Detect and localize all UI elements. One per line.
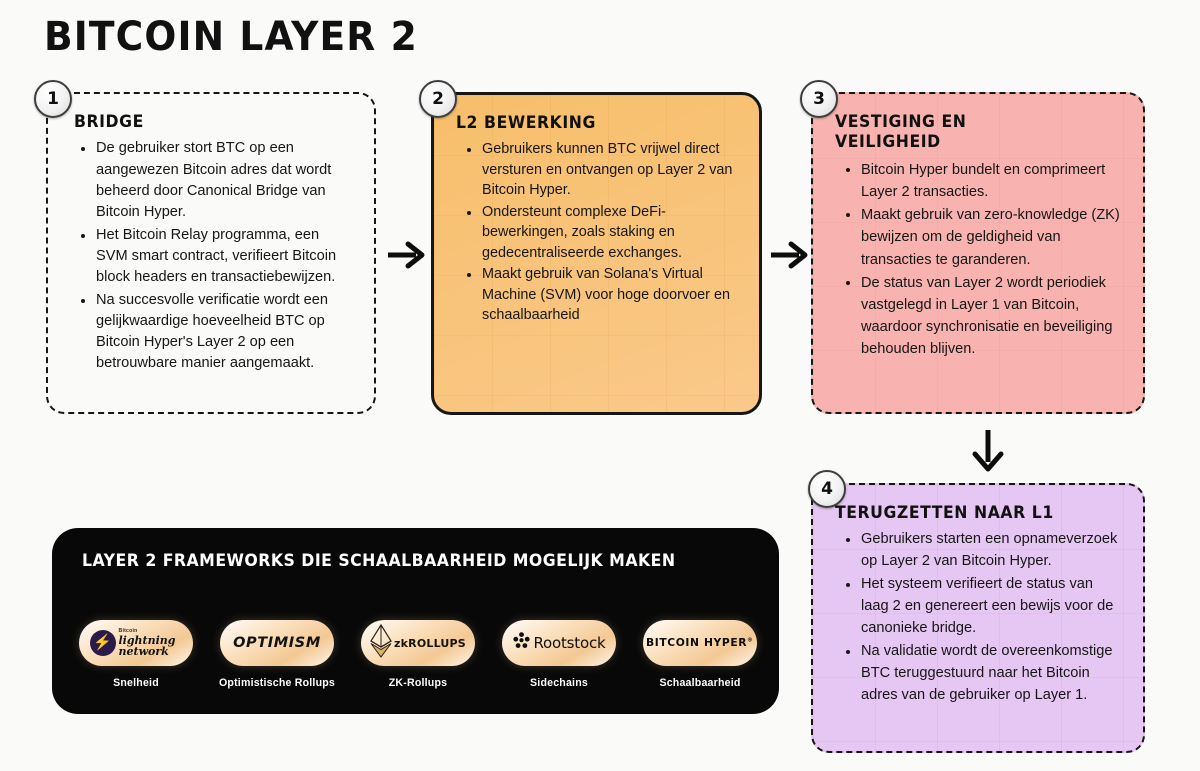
bullet-item: Gebruikers starten een opnameverzoek op … [839, 529, 1123, 573]
step-card-bullets: De gebruiker stort BTC op een aangewezen… [70, 138, 354, 374]
framework-caption: Schaalbaarheid [659, 677, 740, 689]
step-card-l2-bewerking: L2 BEWERKING Gebruikers kunnen BTC vrijw… [431, 92, 762, 415]
step-card-heading: L2 BEWERKING [456, 113, 725, 133]
optimism-wordmark-icon: OPTIMISM [233, 635, 321, 651]
bullet-item: Na validatie wordt de overeenkomstige BT… [839, 641, 1123, 707]
framework-item-rootstock[interactable]: Rootstock Sidechains [497, 620, 621, 689]
bullet-item: Het systeem verifieert de status van laa… [839, 574, 1123, 640]
bullet-item: Ondersteunt complexe DeFi-bewerkingen, z… [460, 202, 739, 263]
step-number-badge-2: 2 [419, 80, 457, 118]
bullet-item: Na succesvolle verificatie wordt een gel… [74, 290, 354, 375]
bitcoin-hyper-wordmark-icon: BITCOIN HYPER® [646, 637, 753, 649]
framework-item-lightning-network[interactable]: ⚡ Bitcoin lightning network Snelheid [74, 620, 198, 689]
framework-caption: ZK-Rollups [389, 677, 448, 689]
rootstock-cluster-icon [513, 632, 530, 654]
framework-logo-superscript: ® [747, 638, 753, 644]
step-card-bullets: Gebruikers starten een opnameverzoek op … [835, 529, 1123, 706]
framework-logo-chip[interactable]: BITCOIN HYPER® [643, 620, 757, 666]
framework-item-bitcoin-hyper[interactable]: BITCOIN HYPER® Schaalbaarheid [638, 620, 762, 689]
frameworks-panel: LAYER 2 FRAMEWORKS DIE SCHAALBAARHEID MO… [52, 528, 779, 714]
framework-caption: Snelheid [113, 677, 159, 689]
step-number-badge-4: 4 [808, 470, 846, 508]
arrow-right-icon [767, 233, 811, 282]
bullet-item: Maakt gebruik van Solana's Virtual Machi… [460, 264, 739, 325]
framework-logo-text: Rootstock [534, 634, 606, 652]
framework-logo-text: BITCOIN HYPER [646, 637, 747, 649]
bullet-item: Gebruikers kunnen BTC vrijwel direct ver… [460, 139, 739, 200]
framework-item-optimism[interactable]: OPTIMISM Optimistische Rollups [215, 620, 339, 689]
bullet-item: De status van Layer 2 wordt periodiek va… [839, 272, 1123, 361]
framework-caption: Sidechains [530, 677, 588, 689]
framework-logo-chip[interactable]: OPTIMISM [220, 620, 334, 666]
framework-logo-text: lightning network [119, 635, 181, 657]
step-card-heading: TERUGZETTEN NAAR L1 [835, 503, 1109, 523]
framework-caption: Optimistische Rollups [219, 677, 335, 689]
step-card-terugzetten-naar-l1: TERUGZETTEN NAAR L1 Gebruikers starten e… [811, 483, 1145, 753]
framework-logo-chip[interactable]: zkROLLUPS [361, 620, 475, 666]
framework-item-zk-rollups[interactable]: zkROLLUPS ZK-Rollups [356, 620, 480, 689]
framework-logo-chip[interactable]: Rootstock [502, 620, 616, 666]
arrow-down-icon [964, 426, 1012, 481]
step-card-heading: VESTIGING EN VEILIGHEID [835, 112, 1025, 153]
step-card-vestiging-en-veiligheid: VESTIGING EN VEILIGHEID Bitcoin Hyper bu… [811, 92, 1145, 414]
bullet-item: Maakt gebruik van zero-knowledge (ZK) be… [839, 204, 1123, 271]
bullet-item: Bitcoin Hyper bundelt en comprimeert Lay… [839, 159, 1123, 203]
step-card-bridge: BRIDGE De gebruiker stort BTC op een aan… [46, 92, 376, 414]
step-card-heading: BRIDGE [74, 112, 340, 132]
frameworks-list: ⚡ Bitcoin lightning network Snelheid OPT… [74, 620, 762, 689]
frameworks-panel-title: LAYER 2 FRAMEWORKS DIE SCHAALBAARHEID MO… [82, 550, 727, 572]
page-title: BITCOIN LAYER 2 [44, 14, 418, 60]
ethereum-diamond-icon [370, 624, 392, 663]
bullet-item: Het Bitcoin Relay programma, een SVM sma… [74, 225, 354, 289]
framework-logo-text: zkROLLUPS [394, 637, 466, 650]
step-card-bullets: Bitcoin Hyper bundelt en comprimeert Lay… [835, 159, 1123, 361]
step-number-badge-3: 3 [800, 80, 838, 118]
bullet-item: De gebruiker stort BTC op een aangewezen… [74, 138, 354, 223]
step-number-badge-1: 1 [34, 80, 72, 118]
framework-logo-chip[interactable]: ⚡ Bitcoin lightning network [79, 620, 193, 666]
step-card-bullets: Gebruikers kunnen BTC vrijwel direct ver… [456, 139, 739, 325]
lightning-bolt-icon: ⚡ [90, 630, 116, 656]
arrow-right-icon [384, 233, 428, 282]
